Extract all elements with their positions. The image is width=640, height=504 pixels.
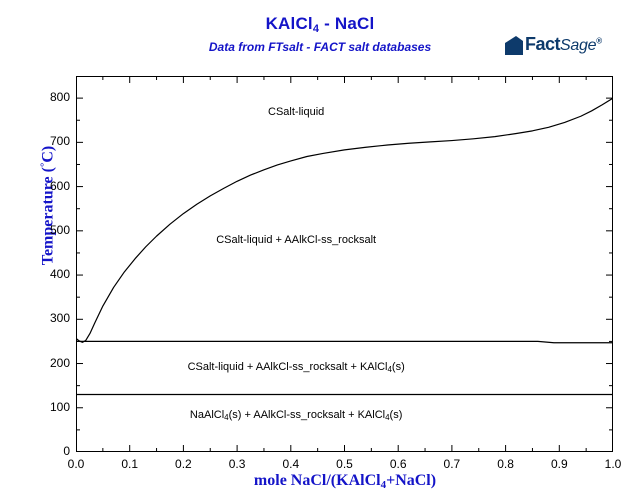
factsage-trademark: ®	[596, 37, 602, 46]
x-axis-tick-label: 0.8	[486, 457, 526, 471]
x-axis-tick-label: 0.0	[56, 457, 96, 471]
y-axis-tick-label: 700	[10, 134, 70, 148]
factsage-pentagon-icon	[503, 35, 525, 62]
x-axis-title: mole NaCl/(KAlCl4+NaCl)	[76, 472, 614, 491]
page-title-formula-main: KAlCl	[266, 14, 313, 33]
factsage-logo: FactSage®	[503, 33, 623, 61]
y-axis-tick-label: 100	[10, 400, 70, 414]
x-axis-tick-label: 0.1	[110, 457, 150, 471]
page-title: KAlCl4 - NaCl	[0, 14, 640, 35]
x-axis-tick-label: 0.3	[217, 457, 257, 471]
phase-diagram-canvas: KAlCl4 - NaCl Data from FTsalt - FACT sa…	[0, 0, 640, 504]
x-axis-tick-label: 0.5	[325, 457, 365, 471]
y-axis-tick-label: 600	[10, 179, 70, 193]
curve-liquidus	[76, 98, 613, 342]
x-axis-tick-label: 1.0	[593, 457, 633, 471]
y-axis-tick-label: 500	[10, 223, 70, 237]
y-axis-tick-label: 0	[10, 444, 70, 458]
x-axis-tick-label: 0.2	[163, 457, 203, 471]
y-axis-tick-label: 300	[10, 311, 70, 325]
plot-area: CSalt-liquidCSalt-liquid + AAlkCl-ss_roc…	[76, 76, 613, 452]
curve-invariant-line-upper	[76, 341, 613, 342]
phase-region-label-1: CSalt-liquid	[268, 106, 324, 118]
x-axis-tick-label: 0.6	[378, 457, 418, 471]
y-axis-tick-label: 200	[10, 356, 70, 370]
phase-region-label-2: CSalt-liquid + AAlkCl-ss_rocksalt	[216, 234, 376, 246]
phase-region-label-3: CSalt-liquid + AAlkCl-ss_rocksalt + KAlC…	[188, 361, 405, 374]
phase-region-label-4: NaAlCl4(s) + AAlkCl-ss_rocksalt + KAlCl4…	[190, 409, 402, 422]
x-axis-tick-label: 0.7	[432, 457, 472, 471]
factsage-wordmark: FactSage®	[525, 34, 602, 55]
x-axis-tick-label: 0.4	[271, 457, 311, 471]
x-axis-title-pre: mole NaCl/(KAlCl	[254, 472, 381, 489]
degree-symbol-icon: °	[39, 163, 51, 167]
y-axis-title: Temperature (°C)	[39, 76, 58, 336]
factsage-word-fact: Fact	[525, 34, 560, 54]
y-axis-tick-label: 800	[10, 90, 70, 104]
x-axis-title-post: +NaCl)	[386, 472, 436, 489]
page-title-tail: - NaCl	[319, 14, 374, 33]
y-axis-tick-label: 400	[10, 267, 70, 281]
x-axis-tick-label: 0.9	[539, 457, 579, 471]
phase-boundary-curves	[76, 76, 613, 452]
factsage-word-sage: Sage	[560, 37, 596, 54]
